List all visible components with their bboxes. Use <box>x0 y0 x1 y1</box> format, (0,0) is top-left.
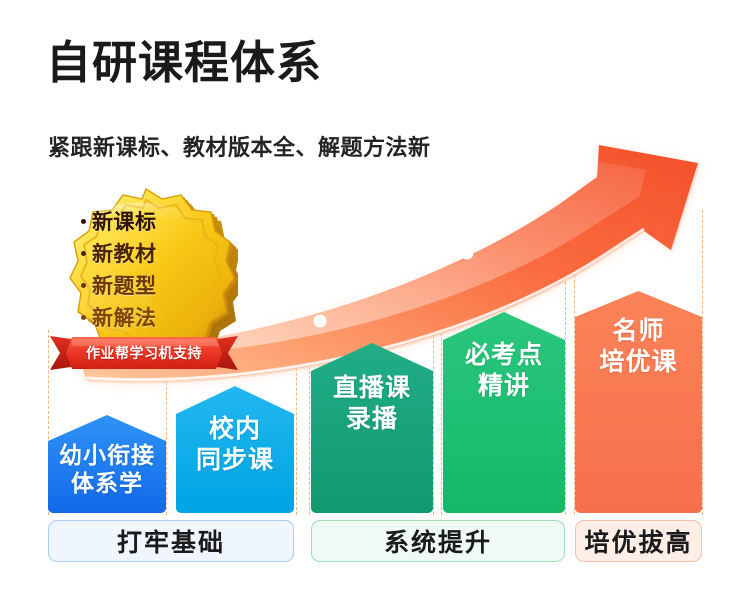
badge-item-4: 新解法 <box>81 301 221 333</box>
course-bar-2[interactable]: 校内同步课 <box>176 386 294 513</box>
bullet-dot-icon <box>81 251 86 256</box>
bar-label-4: 必考点精讲 <box>443 340 565 401</box>
badge-item-label: 新教材 <box>92 238 157 268</box>
ribbon-label: 作业帮学习机支持 <box>48 343 240 363</box>
page-title: 自研课程体系 <box>46 38 322 88</box>
badge-item-label: 新题型 <box>92 270 157 300</box>
guide-line-6 <box>441 288 442 515</box>
bar-label-line1: 必考点 <box>443 340 565 371</box>
bar-label-line2: 同步课 <box>176 445 294 476</box>
bar-label-line2: 体系学 <box>48 469 166 497</box>
guide-line-5 <box>433 290 434 515</box>
guide-line-3 <box>296 318 297 515</box>
bar-label-2: 校内同步课 <box>176 414 294 475</box>
badge-item-label: 新课标 <box>92 206 157 236</box>
course-bar-5[interactable]: 名师培优课 <box>575 291 702 513</box>
bar-label-5: 名师培优课 <box>575 316 702 377</box>
bar-label-line1: 名师 <box>575 316 702 347</box>
badge-feature-list: 新课标新教材新题型新解法 <box>81 205 221 333</box>
bar-label-line2: 培优课 <box>575 347 702 378</box>
stage-label-text: 培优拔高 <box>584 523 692 559</box>
page-subtitle: 紧跟新课标、教材版本全、解题方法新 <box>48 130 431 162</box>
bullet-dot-icon <box>81 283 86 288</box>
bar-label-1: 幼小衔接体系学 <box>48 441 166 497</box>
bar-label-line1: 幼小衔接 <box>48 441 166 469</box>
course-bar-1[interactable]: 幼小衔接体系学 <box>48 415 166 513</box>
course-bar-3[interactable]: 直播课录播 <box>311 343 433 513</box>
badge-item-3: 新题型 <box>81 269 221 301</box>
stage-label-text: 系统提升 <box>384 523 492 559</box>
stage-label-text: 打牢基础 <box>117 523 225 559</box>
badge-item-label: 新解法 <box>92 302 157 332</box>
infographic-canvas: 自研课程体系 紧跟新课标、教材版本全、解题方法新 幼小衔接体系学校内同步课直播课… <box>0 0 750 602</box>
support-ribbon: 作业帮学习机支持 <box>48 330 240 376</box>
bar-label-line1: 直播课 <box>311 373 433 404</box>
stage-label-2[interactable]: 系统提升 <box>311 520 565 562</box>
bar-label-3: 直播课录播 <box>311 373 433 434</box>
guide-line-2 <box>166 352 167 515</box>
stage-label-1[interactable]: 打牢基础 <box>48 520 294 562</box>
guide-line-7 <box>565 262 566 515</box>
course-bar-4[interactable]: 必考点精讲 <box>443 312 565 513</box>
bar-label-line2: 精讲 <box>443 371 565 402</box>
badge-item-1: 新课标 <box>81 205 221 237</box>
stage-label-3[interactable]: 培优拔高 <box>575 520 702 562</box>
guide-line-9 <box>702 210 703 515</box>
guide-line-4 <box>309 316 310 515</box>
bar-label-line2: 录播 <box>311 404 433 435</box>
badge-item-2: 新教材 <box>81 237 221 269</box>
bar-label-line1: 校内 <box>176 414 294 445</box>
bullet-dot-icon <box>81 219 86 224</box>
bullet-dot-icon <box>81 315 86 320</box>
